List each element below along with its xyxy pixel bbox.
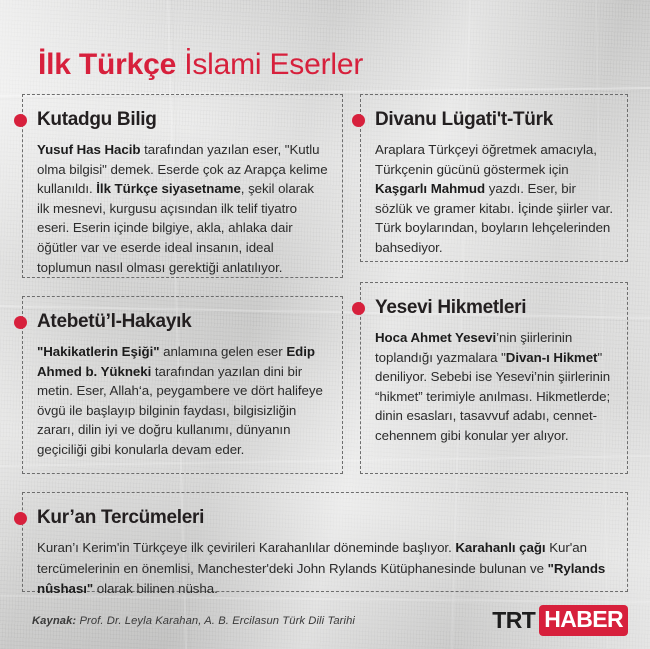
bullet-dot-icon	[352, 114, 365, 127]
trt-wordmark: TRT	[492, 609, 539, 632]
card-divanu-lugatit-turk: Divanu Lügati't-Türk Araplara Türkçeyi ö…	[360, 94, 628, 262]
trt-haber-logo: TRT HABER	[492, 606, 628, 634]
haber-wordmark: HABER	[539, 605, 628, 636]
card-body: Yusuf Has Hacib tarafından yazılan eser,…	[37, 140, 328, 277]
page-title-strong: İlk Türkçe	[38, 48, 176, 81]
infographic-sheet: İlk Türkçe İslami Eserler Kutadgu Bilig …	[0, 0, 650, 649]
footer: Kaynak: Prof. Dr. Leyla Karahan, A. B. E…	[22, 606, 628, 646]
card-heading-text: Kur’an Tercümeleri	[37, 507, 204, 528]
card-atebetul-hakayik: Atebetü’l-Hakayık "Hakikatlerin Eşiği" a…	[22, 296, 343, 474]
card-body: Kuran’ı Kerim'in Türkçeye ilk çevirileri…	[37, 538, 613, 600]
card-kutadgu-bilig: Kutadgu Bilig Yusuf Has Hacib tarafından…	[22, 94, 343, 278]
card-body: "Hakikatlerin Eşiği" anlamına gelen eser…	[37, 342, 328, 460]
card-heading-text: Divanu Lügati't-Türk	[375, 109, 553, 130]
bullet-dot-icon	[14, 512, 27, 525]
card-body: Hoca Ahmet Yesevi’nin şiirlerinin toplan…	[375, 328, 613, 446]
card-heading: Divanu Lügati't-Türk	[375, 109, 613, 131]
bullet-dot-icon	[14, 114, 27, 127]
page-title-light: İslami Eserler	[184, 48, 363, 81]
page-title: İlk Türkçe İslami Eserler	[38, 48, 363, 82]
card-heading: Kutadgu Bilig	[37, 109, 328, 131]
card-heading-text: Kutadgu Bilig	[37, 109, 157, 130]
card-body: Araplara Türkçeyi öğretmek amacıyla, Tür…	[375, 140, 613, 258]
card-kuran-tercumeleri: Kur’an Tercümeleri Kuran’ı Kerim'in Türk…	[22, 492, 628, 592]
source-label: Kaynak:	[32, 615, 76, 627]
card-heading-text: Yesevi Hikmetleri	[375, 297, 526, 318]
bullet-dot-icon	[352, 302, 365, 315]
card-yesevi-hikmetleri: Yesevi Hikmetleri Hoca Ahmet Yesevi’nin …	[360, 282, 628, 474]
source-note: Kaynak: Prof. Dr. Leyla Karahan, A. B. E…	[32, 615, 355, 627]
card-heading: Yesevi Hikmetleri	[375, 297, 613, 319]
card-heading-text: Atebetü’l-Hakayık	[37, 311, 191, 332]
bullet-dot-icon	[14, 316, 27, 329]
card-heading: Atebetü’l-Hakayık	[37, 311, 328, 333]
card-heading: Kur’an Tercümeleri	[37, 507, 613, 529]
source-text: Prof. Dr. Leyla Karahan, A. B. Ercilasun…	[76, 615, 355, 627]
